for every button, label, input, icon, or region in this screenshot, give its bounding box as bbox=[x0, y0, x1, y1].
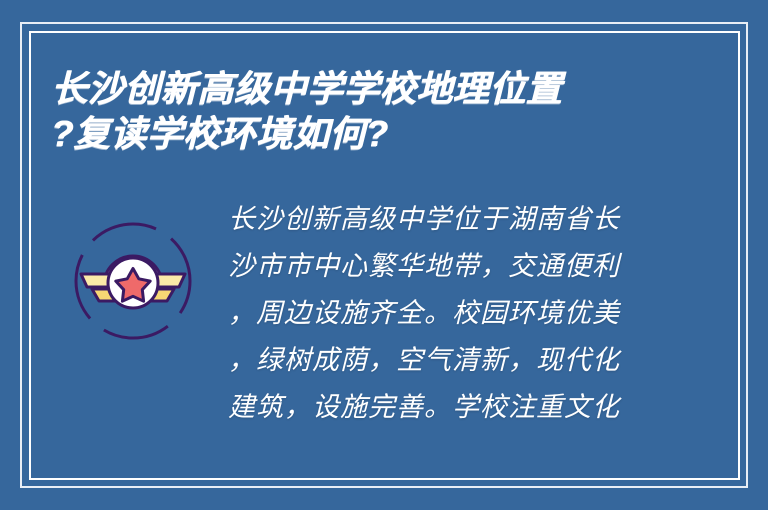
body-line-3: ，周边设施齐全。校园环境优美 bbox=[228, 290, 768, 337]
body-line-5: 建筑，设施完善。学校注重文化 bbox=[228, 384, 768, 431]
title-line-1: 长沙创新高级中学学校地理位置 bbox=[51, 66, 691, 111]
page-title: 长沙创新高级中学学校地理位置 ?复读学校环境如何? bbox=[51, 66, 691, 156]
body-paragraph: 长沙创新高级中学位于湖南省长 沙市市中心繁华地带，交通便利 ，周边设施齐全。校园… bbox=[228, 196, 768, 431]
winged-star-badge-icon bbox=[71, 219, 195, 343]
title-line-2: ?复读学校环境如何? bbox=[51, 111, 691, 156]
poster-canvas: 长沙创新高级中学学校地理位置 ?复读学校环境如何? bbox=[0, 0, 768, 510]
body-line-1: 长沙创新高级中学位于湖南省长 bbox=[228, 196, 768, 243]
body-line-4: ，绿树成荫，空气清新，现代化 bbox=[228, 337, 768, 384]
content-row: 长沙创新高级中学位于湖南省长 沙市市中心繁华地带，交通便利 ，周边设施齐全。校园… bbox=[0, 196, 768, 496]
body-line-2: 沙市市中心繁华地带，交通便利 bbox=[228, 243, 768, 290]
